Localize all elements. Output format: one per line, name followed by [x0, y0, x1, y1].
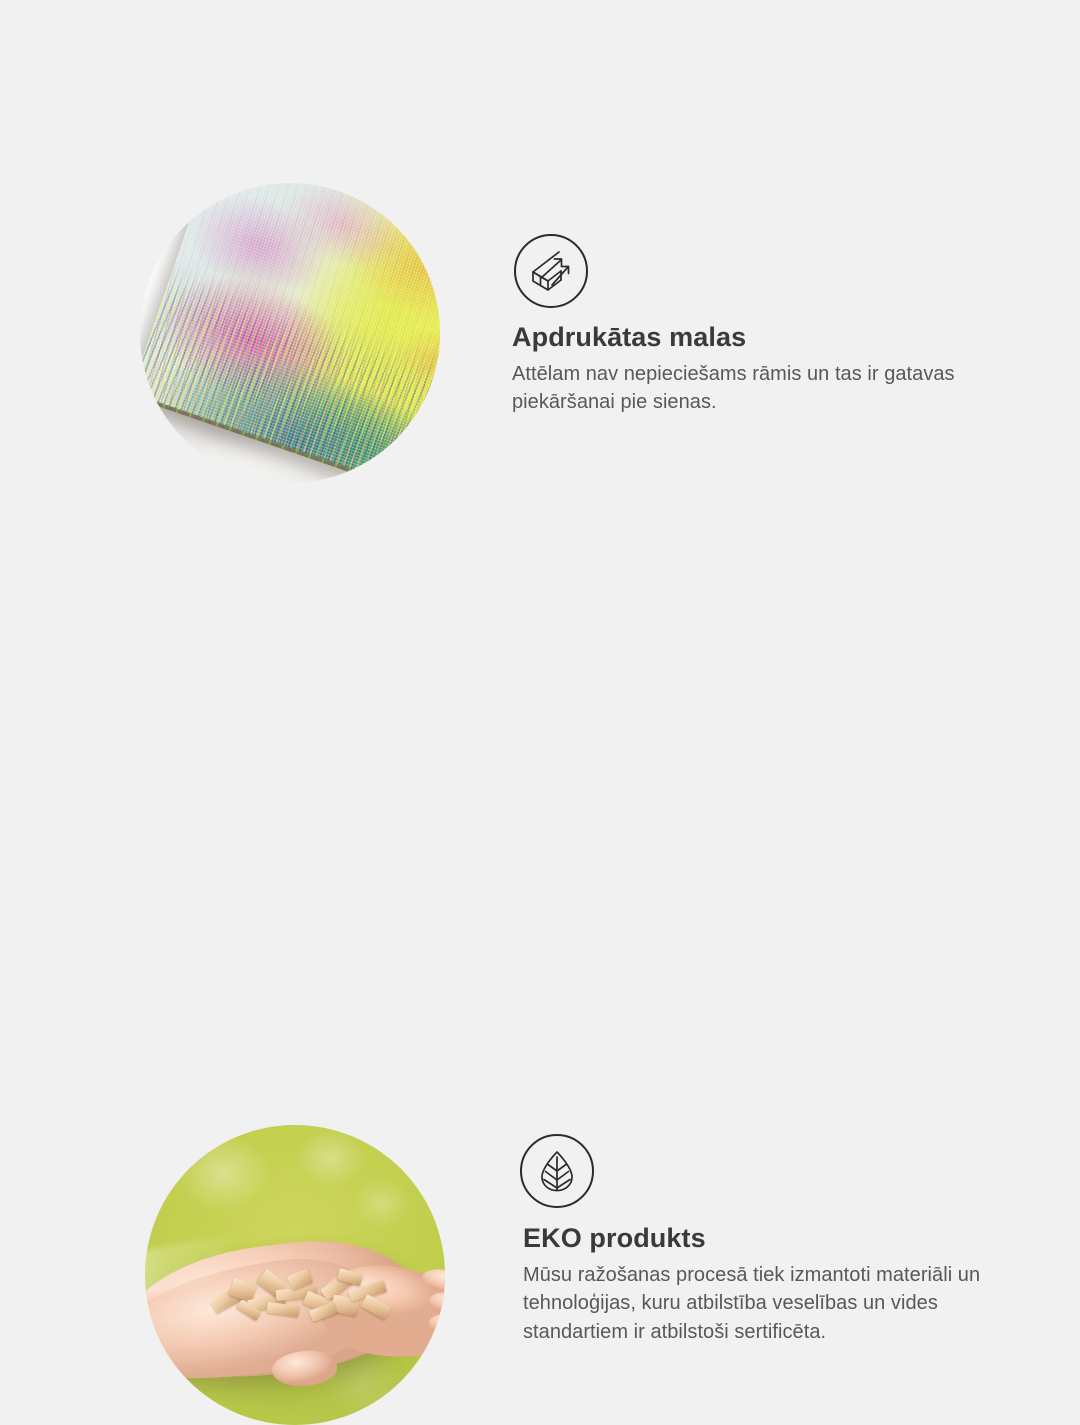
feature-eco-product: EKO produkts Mūsu ražošanas procesā tiek…	[0, 540, 1080, 1080]
wood-chips	[203, 1267, 418, 1326]
feature-title: Apdrukātas malas	[512, 322, 1012, 354]
wrapped-canvas-edges-icon	[514, 234, 588, 308]
hands-holding-wood-chips-photo	[145, 1125, 445, 1425]
infographic-stage: Apdrukātas malas Attēlam nav nepieciešam…	[0, 0, 1080, 1080]
leaf-icon	[520, 1134, 594, 1208]
feature-title: EKO produkts	[523, 1223, 1023, 1255]
feature-printed-edges: Apdrukātas malas Attēlam nav nepieciešam…	[0, 0, 1080, 540]
feature-description: Mūsu ražošanas procesā tiek izmantoti ma…	[523, 1261, 1023, 1346]
canvas-print-corner-photo	[140, 183, 440, 483]
hands	[145, 1215, 445, 1389]
feature-printed-edges-text: Apdrukātas malas Attēlam nav nepieciešam…	[512, 322, 1012, 417]
feature-eco-product-text: EKO produkts Mūsu ražošanas procesā tiek…	[523, 1223, 1023, 1346]
feature-description: Attēlam nav nepieciešams rāmis un tas ir…	[512, 360, 1012, 417]
